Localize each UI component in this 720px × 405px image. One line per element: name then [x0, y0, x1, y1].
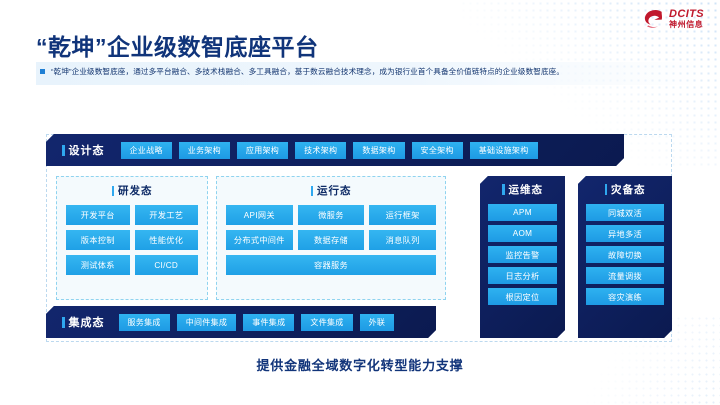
- dev-tile[interactable]: 性能优化: [135, 230, 199, 250]
- design-chip[interactable]: 技术架构: [295, 142, 346, 159]
- design-tier-chips: 企业战略 业务架构 应用架构 技术架构 数据架构 安全架构 基础设施架构: [121, 142, 538, 159]
- accent-tick-icon: [502, 184, 505, 195]
- runtime-tile-container-service[interactable]: 容器服务: [226, 255, 436, 275]
- accent-tick-icon: [311, 186, 314, 196]
- integration-chip[interactable]: 外联: [360, 314, 395, 331]
- design-tier-bar: 设计态 企业战略 业务架构 应用架构 技术架构 数据架构 安全架构 基础设施架构: [46, 134, 624, 166]
- dev-tier-panel: 研发态 开发平台 开发工艺 版本控制 性能优化 测试体系 CI/CD: [56, 176, 208, 300]
- dev-tile[interactable]: 开发平台: [66, 205, 130, 225]
- integration-tier-chips: 服务集成 中间件集成 事件集成 文件集成 外联: [119, 314, 395, 331]
- dev-tile[interactable]: 开发工艺: [135, 205, 199, 225]
- design-chip[interactable]: 企业战略: [121, 142, 172, 159]
- runtime-tile[interactable]: 消息队列: [369, 230, 436, 250]
- integration-tier-label-group: 集成态: [62, 314, 105, 330]
- integration-chip[interactable]: 事件集成: [243, 314, 294, 331]
- dr-tile[interactable]: 容灾演练: [586, 288, 664, 305]
- ops-tier-title-group: 运维态: [488, 182, 557, 197]
- runtime-tile[interactable]: 分布式中间件: [226, 230, 293, 250]
- runtime-tile[interactable]: 数据存储: [298, 230, 365, 250]
- accent-tick-icon: [62, 145, 65, 156]
- dev-tier-grid: 开发平台 开发工艺 版本控制 性能优化 测试体系 CI/CD: [57, 205, 207, 283]
- ops-tile[interactable]: APM: [488, 204, 557, 221]
- footer-caption: 提供金融全域数字化转型能力支撑: [0, 355, 720, 374]
- ops-tile[interactable]: 日志分析: [488, 267, 557, 284]
- runtime-tier-label: 运行态: [317, 183, 352, 198]
- logo-text-cn: 神州信息: [669, 21, 704, 29]
- bullet-square-icon: [40, 69, 45, 74]
- runtime-tier-title-group: 运行态: [217, 183, 445, 198]
- design-chip[interactable]: 应用架构: [237, 142, 288, 159]
- dr-tier-title-group: 灾备态: [586, 182, 664, 197]
- design-tier-label-group: 设计态: [62, 142, 105, 158]
- accent-tick-icon: [112, 186, 115, 196]
- design-chip[interactable]: 安全架构: [412, 142, 463, 159]
- dev-tier-title-group: 研发态: [57, 183, 207, 198]
- dr-tier-label: 灾备态: [611, 182, 646, 197]
- integration-chip[interactable]: 服务集成: [119, 314, 170, 331]
- dr-tile[interactable]: 故障切换: [586, 246, 664, 263]
- brand-logo: DCITS 神州信息: [643, 9, 704, 29]
- ops-tier-inner: 运维态 APM AOM 监控告警 日志分析 根因定位: [480, 176, 565, 338]
- integration-tier-label: 集成态: [69, 314, 105, 330]
- design-tier-label: 设计态: [69, 142, 105, 158]
- integration-tier-bar: 集成态 服务集成 中间件集成 事件集成 文件集成 外联: [46, 306, 436, 338]
- dcits-swoosh-icon: [643, 9, 665, 29]
- dr-tier-label-group: 灾备态: [605, 182, 646, 197]
- dev-tile[interactable]: CI/CD: [135, 255, 199, 275]
- ops-tile[interactable]: 根因定位: [488, 288, 557, 305]
- runtime-tile[interactable]: 运行框架: [369, 205, 436, 225]
- ops-tile[interactable]: AOM: [488, 225, 557, 242]
- dev-tile[interactable]: 版本控制: [66, 230, 130, 250]
- ops-tile[interactable]: 监控告警: [488, 246, 557, 263]
- runtime-tile[interactable]: API网关: [226, 205, 293, 225]
- runtime-tier-panel: 运行态 API网关 微服务 运行框架 分布式中间件 数据存储 消息队列 容器服务: [216, 176, 446, 300]
- accent-tick-icon: [62, 317, 65, 328]
- disaster-recovery-tier-column: 灾备态 同城双活 异地多活 故障切换 流量调拨 容灾演练: [578, 176, 672, 338]
- ops-tier-label: 运维态: [509, 182, 544, 197]
- dr-tile[interactable]: 流量调拨: [586, 267, 664, 284]
- design-chip[interactable]: 数据架构: [353, 142, 404, 159]
- ops-tier-column: 运维态 APM AOM 监控告警 日志分析 根因定位: [480, 176, 565, 338]
- runtime-tier-grid: API网关 微服务 运行框架 分布式中间件 数据存储 消息队列 容器服务: [217, 205, 445, 283]
- subtitle-text: “乾坤”企业级数智底座，通过多平台融合、多技术栈融合、多工具融合，基于数云融合技…: [51, 66, 564, 77]
- integration-chip[interactable]: 文件集成: [301, 314, 352, 331]
- dev-tile[interactable]: 测试体系: [66, 255, 130, 275]
- dr-tier-inner: 灾备态 同城双活 异地多活 故障切换 流量调拨 容灾演练: [578, 176, 672, 338]
- accent-tick-icon: [605, 184, 608, 195]
- logo-text-en: DCITS: [669, 9, 704, 20]
- ops-tier-label-group: 运维态: [502, 182, 543, 197]
- page-title: “乾坤”企业级数智底座平台: [36, 28, 319, 62]
- slide-canvas: DCITS 神州信息 “乾坤”企业级数智底座平台 “乾坤”企业级数智底座，通过多…: [0, 0, 720, 405]
- dev-tier-label: 研发态: [118, 183, 153, 198]
- design-chip[interactable]: 基础设施架构: [470, 142, 538, 159]
- runtime-tile[interactable]: 微服务: [298, 205, 365, 225]
- dr-tile[interactable]: 同城双活: [586, 204, 664, 221]
- design-chip[interactable]: 业务架构: [179, 142, 230, 159]
- subtitle-row: “乾坤”企业级数智底座，通过多平台融合、多技术栈融合、多工具融合，基于数云融合技…: [40, 66, 700, 77]
- integration-chip[interactable]: 中间件集成: [177, 314, 237, 331]
- dr-tile[interactable]: 异地多活: [586, 225, 664, 242]
